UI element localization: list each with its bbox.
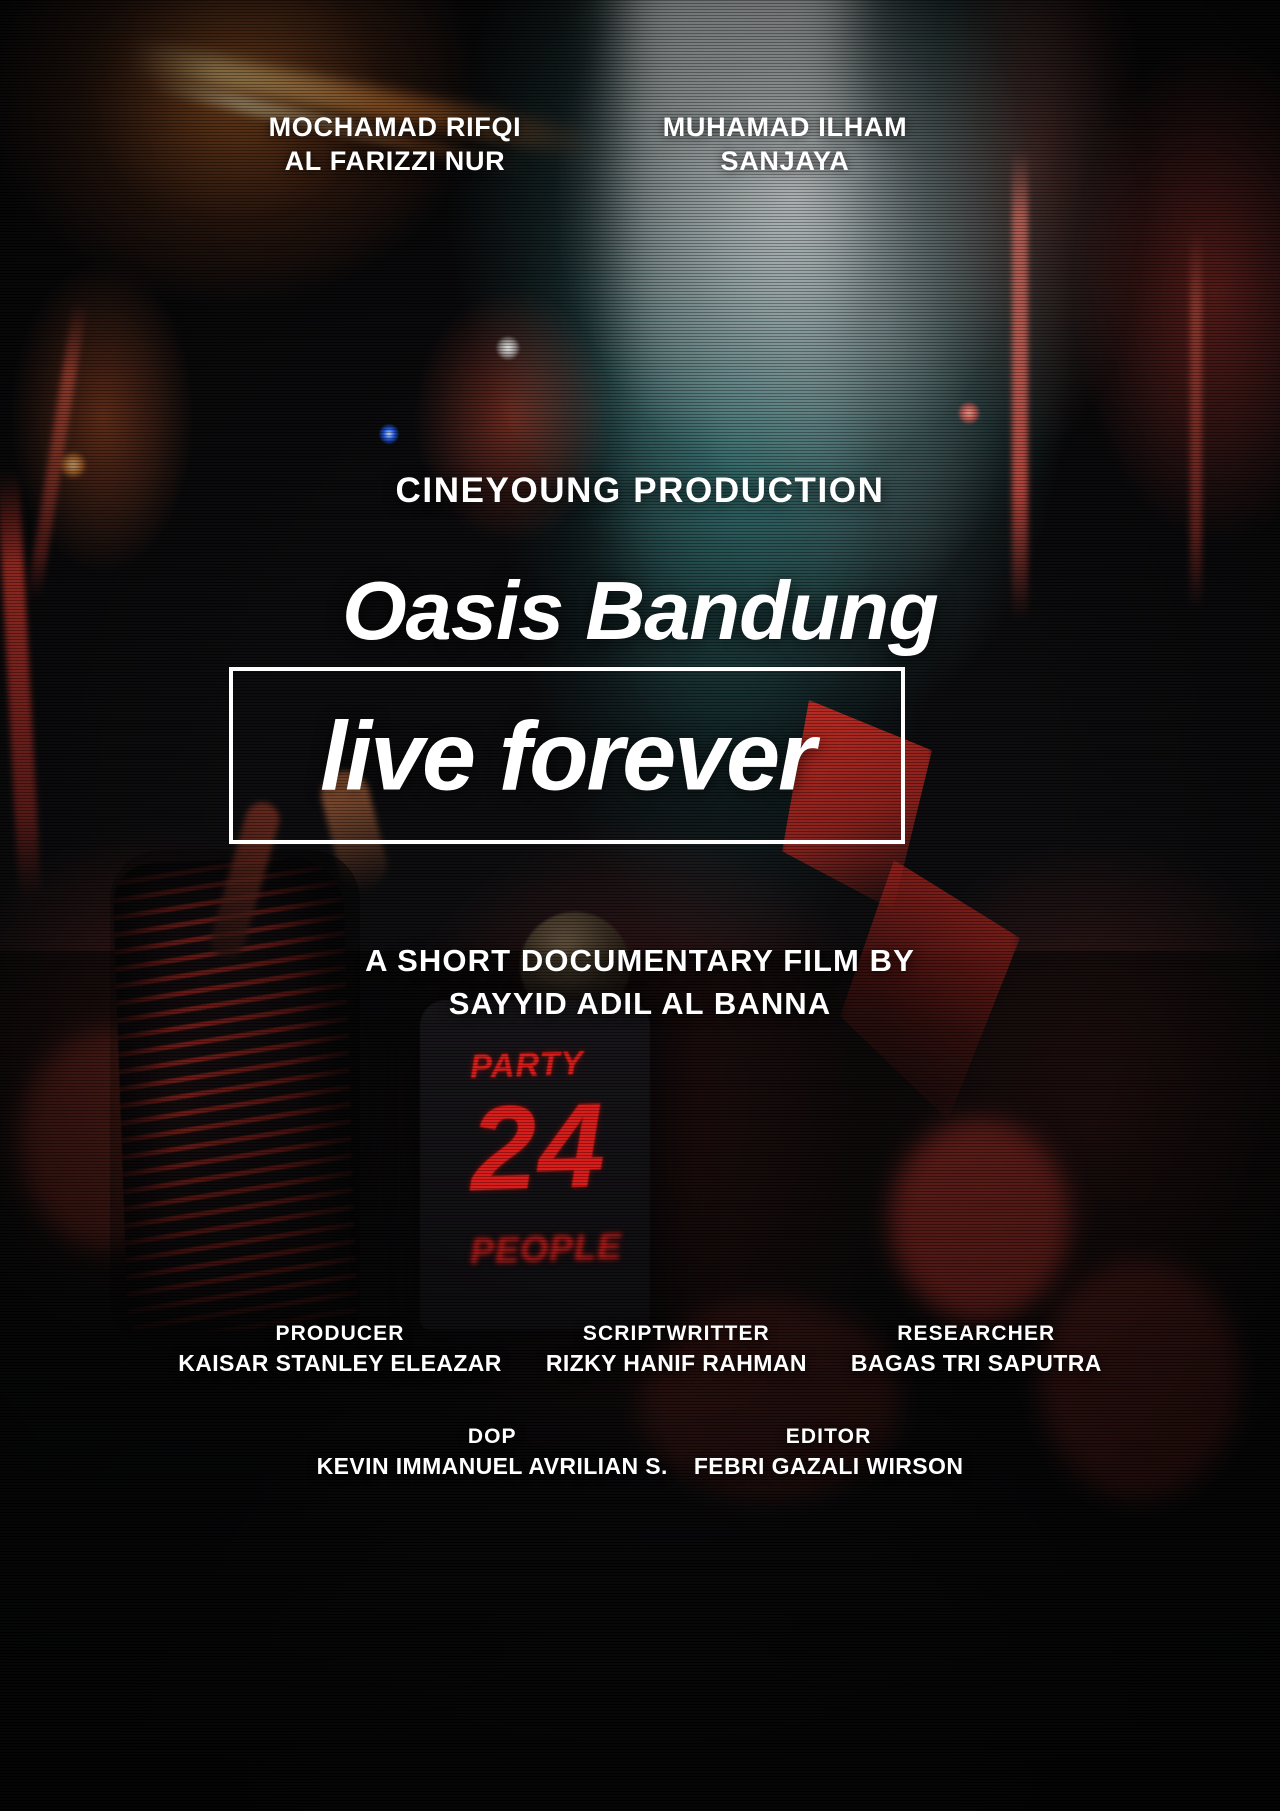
neon-strip-right-inner <box>1012 150 1028 620</box>
crew-row-primary: PRODUCER KAISAR STANLEY ELEAZAR SCRIPTWR… <box>0 1320 1280 1379</box>
crew-dop: DOP KEVIN IMMANUEL AVRILIAN S. <box>317 1423 668 1482</box>
tee-text-people: PEOPLE <box>469 1225 622 1272</box>
top-credit-left: MOCHAMAD RIFQI AL FARIZZI NUR <box>180 110 610 178</box>
tee-text-number: 24 <box>468 1088 607 1207</box>
crew-researcher: RESEARCHER BAGAS TRI SAPUTRA <box>851 1320 1102 1379</box>
top-credit-left-line2: AL FARIZZI NUR <box>180 144 610 178</box>
crew-credits: PRODUCER KAISAR STANLEY ELEAZAR SCRIPTWR… <box>0 1320 1280 1482</box>
specular-highlight-white <box>496 336 520 360</box>
crew-scriptwriter: SCRIPTWRITTER RIZKY HANIF RAHMAN <box>546 1320 807 1379</box>
byline-line2: SAYYID ADIL AL BANNA <box>0 983 1280 1026</box>
top-credit-left-line1: MOCHAMAD RIFQI <box>180 110 610 144</box>
crew-editor-name: FEBRI GAZALI WIRSON <box>694 1451 964 1482</box>
movie-poster: PARTY 24 PEOPLE MOCHAMAD RIFQI AL FARIZZ… <box>0 0 1280 1811</box>
crew-row-secondary: DOP KEVIN IMMANUEL AVRILIAN S. EDITOR FE… <box>0 1423 1280 1482</box>
crew-editor: EDITOR FEBRI GAZALI WIRSON <box>694 1423 964 1482</box>
crew-producer: PRODUCER KAISAR STANLEY ELEAZAR <box>178 1320 502 1379</box>
crew-researcher-role: RESEARCHER <box>851 1320 1102 1348</box>
crew-scriptwriter-name: RIZKY HANIF RAHMAN <box>546 1348 807 1379</box>
specular-highlight-red <box>958 402 980 424</box>
top-credit-right: MUHAMAD ILHAM SANJAYA <box>570 110 1000 178</box>
director-byline: A SHORT DOCUMENTARY FILM BY SAYYID ADIL … <box>0 940 1280 1026</box>
neon-strip-right-outer <box>1190 230 1202 610</box>
crew-dop-role: DOP <box>317 1423 668 1451</box>
crew-producer-role: PRODUCER <box>178 1320 502 1348</box>
subtitle-frame: live forever <box>229 667 905 844</box>
crew-scriptwriter-role: SCRIPTWRITTER <box>546 1320 807 1348</box>
crew-editor-role: EDITOR <box>694 1423 964 1451</box>
specular-highlight-blue <box>379 424 399 444</box>
crew-researcher-name: BAGAS TRI SAPUTRA <box>851 1348 1102 1379</box>
top-credit-right-line2: SANJAYA <box>570 144 1000 178</box>
top-credit-right-line1: MUHAMAD ILHAM <box>570 110 1000 144</box>
byline-line1: A SHORT DOCUMENTARY FILM BY <box>0 940 1280 983</box>
crew-producer-name: KAISAR STANLEY ELEAZAR <box>178 1348 502 1379</box>
crew-dop-name: KEVIN IMMANUEL AVRILIAN S. <box>317 1451 668 1482</box>
film-subtitle: live forever <box>233 707 901 804</box>
crowd-glow-a <box>890 1120 1070 1320</box>
production-house-label: CINEYOUNG PRODUCTION <box>0 471 1280 511</box>
film-title: Oasis Bandung <box>0 563 1280 659</box>
